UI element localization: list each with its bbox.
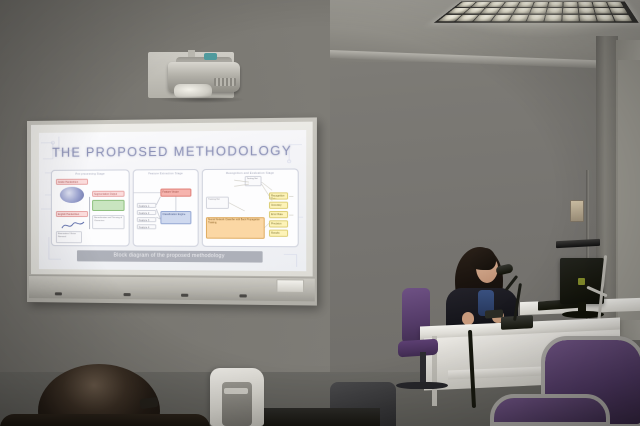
projector-shadow	[160, 96, 244, 103]
presenter-hair-front	[470, 248, 496, 270]
presenter-chair-post	[420, 352, 426, 386]
chair-foreground-white-bar	[224, 388, 248, 394]
slide-panel-1: Pre-processing Stage Arabic Handwritten …	[51, 169, 130, 246]
brain-illustration-icon	[60, 187, 84, 203]
foreground-dark-surface	[260, 408, 380, 426]
whiteboard-eraser-icon	[276, 279, 304, 293]
slide-block-preproc: Binarization / Noise Removal	[56, 231, 82, 243]
slide-panels: Pre-processing Stage Arabic Handwritten …	[51, 168, 295, 247]
handwriting-sample-icon	[60, 219, 86, 231]
projector-vent-icon	[214, 78, 236, 86]
monitor-led-icon	[578, 278, 585, 285]
whiteboard-marker-tray	[29, 275, 315, 301]
slide-block-arabic: Arabic Handwritten	[56, 179, 88, 185]
microphone-base	[501, 315, 533, 330]
presenter-chair-base	[396, 382, 448, 389]
slide-panel-1-header: Pre-processing Stage	[52, 172, 129, 175]
slide-network-lines-icon	[203, 170, 298, 249]
projected-slide: THE PROPOSED METHODOLOGY Pre-processing …	[39, 130, 306, 271]
slide-block-segmented-output	[92, 200, 124, 211]
slide-arrows-icon	[134, 170, 198, 248]
slide-block-normalization: Normalization and Thinning of Characters	[92, 215, 124, 229]
back-wall-right	[618, 60, 640, 320]
slide-caption: Block diagram of the proposed methodolog…	[77, 250, 263, 262]
wall-speaker-icon	[570, 200, 584, 222]
audience-member-shoulder	[0, 414, 210, 426]
whiteboard-frame: THE PROPOSED METHODOLOGY Pre-processing …	[27, 117, 317, 305]
slide-connector	[89, 197, 90, 229]
chair-foreground-chrome-rim-2	[490, 394, 610, 426]
presenter-chair-seat	[398, 339, 438, 358]
projector-accent-icon	[204, 53, 217, 60]
slide-title: THE PROPOSED METHODOLOGY	[39, 144, 306, 160]
presenter-hand-left	[462, 312, 474, 325]
whiteboard-surface: THE PROPOSED METHODOLOGY Pre-processing …	[31, 122, 313, 277]
slide-panel-3: Recognition and Evaluation Stage Trainin…	[202, 168, 299, 247]
slide-panel-2: Feature Extraction Stage Feature Vector …	[133, 169, 199, 247]
slide-block-english: English Handwritten	[56, 211, 88, 217]
recessed-louvre-light-icon	[434, 2, 639, 23]
presentation-room-photo: THE PROPOSED METHODOLOGY Pre-processing …	[0, 0, 640, 426]
slide-block-segmentation: Segmentation Output	[92, 191, 124, 197]
